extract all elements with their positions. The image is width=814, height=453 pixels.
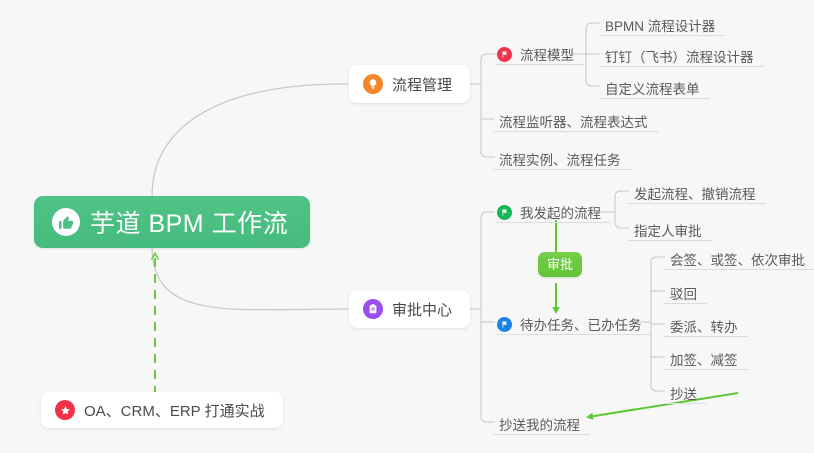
node-label: 指定人审批	[634, 225, 702, 239]
node-label: 流程实例、流程任务	[499, 154, 621, 168]
branch-approval-center[interactable]: 审批中心	[349, 290, 470, 328]
root-node[interactable]: 芋道 BPM 工作流	[34, 196, 310, 248]
lightbulb-icon	[363, 74, 383, 94]
bottom-note-label: OA、CRM、ERP 打通实战	[84, 400, 265, 421]
branch-label: 流程管理	[392, 74, 452, 95]
node-dingtalk-feishu-designer[interactable]: 钉钉（飞书）流程设计器	[599, 41, 764, 67]
node-listener-expression[interactable]: 流程监听器、流程表达式	[493, 106, 658, 132]
edge-carbon-copy-to-cc-process	[588, 393, 738, 417]
edge-rail-to-countersign	[651, 257, 665, 263]
bottom-note[interactable]: OA、CRM、ERP 打通实战	[41, 392, 283, 428]
edge-rail-to-start-cancel	[615, 191, 629, 197]
mindmap-canvas: 芋道 BPM 工作流 流程管理 流程模型 流程监听器、流程表达式 流程实例、流程…	[0, 0, 814, 453]
node-label: 抄送我的流程	[499, 419, 580, 433]
node-start-cancel-process[interactable]: 发起流程、撤销流程	[628, 178, 766, 204]
node-add-remove-sign[interactable]: 加签、减签	[664, 344, 748, 370]
node-label: 自定义流程表单	[605, 83, 700, 97]
star-icon	[55, 400, 75, 420]
node-label: 加签、减签	[670, 354, 738, 368]
edge-rail-to-assignee-approval	[615, 222, 629, 228]
flag-icon	[497, 205, 512, 220]
approval-pill-label: 审批	[547, 257, 573, 272]
node-label: 流程模型	[520, 49, 574, 63]
root-label: 芋道 BPM 工作流	[90, 204, 288, 240]
approval-pill[interactable]: 审批	[538, 252, 582, 277]
node-process-model[interactable]: 流程模型	[495, 39, 584, 65]
node-delegate-transfer[interactable]: 委派、转办	[664, 311, 748, 337]
node-label: 钉钉（飞书）流程设计器	[605, 51, 754, 65]
node-label: 委派、转办	[670, 321, 738, 335]
branch-process-management[interactable]: 流程管理	[349, 65, 470, 103]
branch-label: 审批中心	[392, 299, 452, 320]
node-carbon-copy[interactable]: 抄送	[664, 378, 707, 404]
thumbs-up-icon	[52, 208, 80, 236]
node-countersign[interactable]: 会签、或签、依次审批	[664, 244, 814, 270]
edge-root-to-process-management	[152, 84, 348, 196]
node-assignee-approval[interactable]: 指定人审批	[628, 215, 712, 241]
node-reject[interactable]: 驳回	[664, 278, 707, 304]
edge-rail-to-my-initiated	[481, 212, 495, 218]
node-instance-task[interactable]: 流程实例、流程任务	[493, 144, 631, 170]
flag-icon	[497, 47, 512, 62]
node-my-initiated-process[interactable]: 我发起的流程	[495, 197, 611, 223]
edge-rail-to-custom-form	[586, 80, 600, 86]
clipboard-icon	[363, 299, 383, 319]
node-todo-done-task[interactable]: 待办任务、已办任务	[495, 309, 652, 335]
node-label: 发起流程、撤销流程	[634, 188, 756, 202]
node-label: 待办任务、已办任务	[520, 319, 642, 333]
node-cc-to-me-process[interactable]: 抄送我的流程	[493, 409, 590, 435]
node-label: 会签、或签、依次审批	[670, 254, 805, 268]
node-label: 流程监听器、流程表达式	[499, 116, 648, 130]
node-label: BPMN 流程设计器	[605, 20, 715, 34]
flag-icon	[497, 317, 512, 332]
edge-root-to-approval-center	[152, 246, 348, 310]
node-label: 抄送	[670, 388, 697, 402]
node-custom-process-form[interactable]: 自定义流程表单	[599, 73, 710, 99]
node-label: 我发起的流程	[520, 207, 601, 221]
node-label: 驳回	[670, 288, 697, 302]
edge-rail-to-bpmn	[586, 23, 600, 29]
edge-rail-to-carbon-copy	[651, 385, 665, 391]
node-bpmn-designer[interactable]: BPMN 流程设计器	[599, 10, 725, 36]
